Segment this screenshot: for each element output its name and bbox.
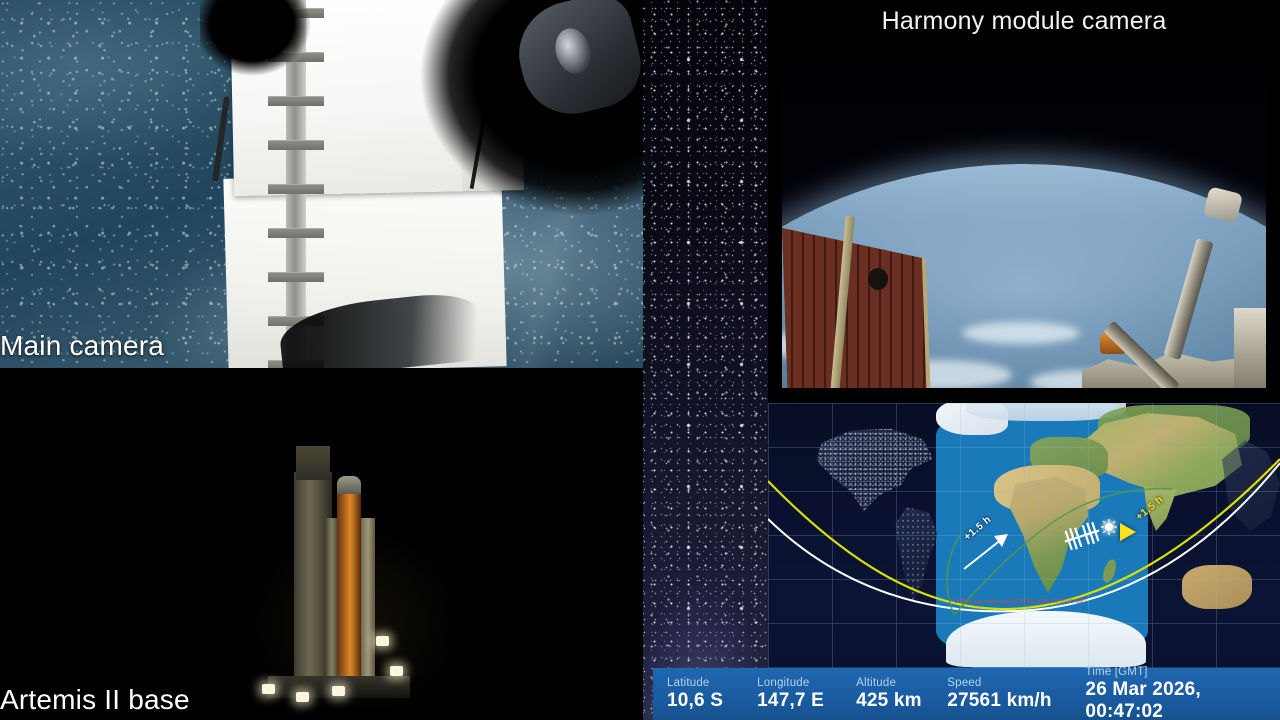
- pad-light: [262, 684, 275, 694]
- starfield-divider: [643, 0, 768, 720]
- orion-capsule: [337, 476, 361, 494]
- truss-white-module: [1234, 308, 1266, 388]
- panel-ground-track-map[interactable]: +1.5 h +1.5 h Orbit on the newest epoch …: [768, 403, 1280, 668]
- telemetry-time: Time [GMT] 26 Mar 2026, 00:47:02: [1085, 666, 1280, 720]
- harmony-camera-title: Harmony module camera: [768, 2, 1280, 40]
- video-wall: FLAP 2 Main camera: [0, 0, 1280, 720]
- panel-main-camera[interactable]: FLAP 2 Main camera: [0, 0, 643, 368]
- iss-icon: [1060, 521, 1104, 551]
- telemetry-longitude-label: Longitude: [757, 677, 856, 690]
- solid-rocket-booster-right: [361, 518, 375, 680]
- telemetry-speed-value: 27561 km/h: [947, 690, 1085, 712]
- ground-track-overlay: [768, 403, 1280, 668]
- telemetry-altitude-label: Altitude: [856, 677, 947, 690]
- telemetry-time-label: Time [GMT]: [1085, 666, 1280, 679]
- panel-harmony-camera[interactable]: Harmony module camera: [768, 0, 1280, 403]
- telemetry-speed-label: Speed: [947, 677, 1085, 690]
- orbit-track-future: [768, 459, 1280, 609]
- pad-light: [390, 666, 403, 676]
- main-camera-caption: Main camera: [0, 330, 164, 362]
- telemetry-altitude: Altitude 425 km: [856, 677, 947, 712]
- pad-light: [296, 692, 309, 702]
- telemetry-time-value: 26 Mar 2026, 00:47:02: [1085, 679, 1280, 720]
- shadow-left: [200, 0, 330, 96]
- telemetry-speed: Speed 27561 km/h: [947, 677, 1085, 712]
- telemetry-longitude-value: 147,7 E: [757, 690, 856, 712]
- artemis-caption: Artemis II base: [0, 684, 190, 716]
- telemetry-bar: Latitude 10,6 S Longitude 147,7 E Altitu…: [653, 668, 1280, 720]
- orbit-epoch-note: Orbit on the newest epoch 26 Mar 2026, 0…: [954, 599, 1087, 605]
- telemetry-altitude-value: 425 km: [856, 690, 947, 712]
- pad-light: [332, 686, 345, 696]
- tower-crane-top: [296, 446, 330, 480]
- panel-artemis-base[interactable]: Artemis II base: [0, 368, 643, 720]
- array-hub-node: [868, 268, 888, 290]
- harmony-video-feed[interactable]: [782, 40, 1266, 388]
- pad-light: [376, 636, 389, 646]
- telemetry-longitude: Longitude 147,7 E: [757, 677, 856, 712]
- telemetry-latitude-value: 10,6 S: [667, 690, 757, 712]
- sls-core-stage: [337, 490, 361, 680]
- telemetry-latitude-label: Latitude: [667, 677, 757, 690]
- sun-icon: [1101, 519, 1117, 535]
- orbit-track-past: [768, 463, 1280, 611]
- position-marker-icon: [1120, 523, 1136, 541]
- telemetry-latitude: Latitude 10,6 S: [667, 677, 757, 712]
